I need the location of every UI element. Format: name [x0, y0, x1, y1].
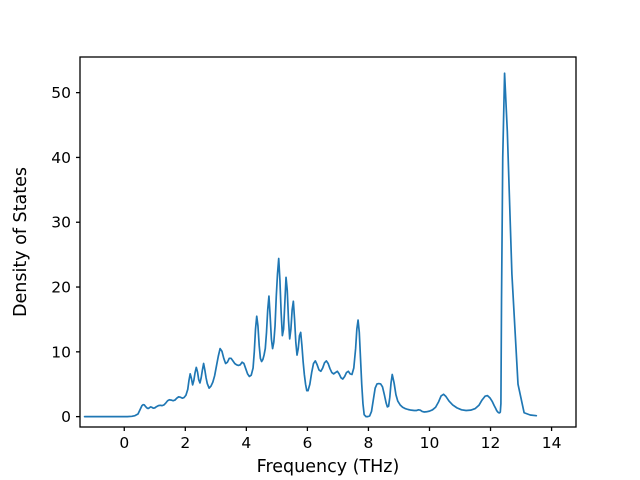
x-tick-label: 10 — [420, 434, 440, 452]
x-axis-title: Frequency (THz) — [257, 457, 400, 477]
x-axis-ticks: 02468101214 — [119, 427, 561, 452]
y-tick-label: 0 — [61, 408, 71, 426]
x-tick-label: 4 — [241, 434, 251, 452]
x-tick-label: 2 — [180, 434, 190, 452]
x-tick-label: 8 — [364, 434, 374, 452]
y-tick-label: 30 — [51, 214, 71, 232]
y-tick-label: 20 — [51, 279, 71, 297]
y-axis-title: Density of States — [11, 167, 31, 317]
x-tick-label: 12 — [481, 434, 501, 452]
y-axis-ticks: 01020304050 — [51, 84, 80, 426]
dos-line-chart: 02468101214 01020304050 Frequency (THz) … — [0, 0, 640, 480]
y-tick-label: 10 — [51, 343, 71, 361]
y-tick-label: 50 — [51, 84, 71, 102]
y-tick-label: 40 — [51, 149, 71, 167]
x-tick-label: 0 — [119, 434, 129, 452]
x-tick-label: 6 — [302, 434, 312, 452]
figure-canvas: 02468101214 01020304050 Frequency (THz) … — [0, 0, 640, 480]
x-tick-label: 14 — [542, 434, 562, 452]
